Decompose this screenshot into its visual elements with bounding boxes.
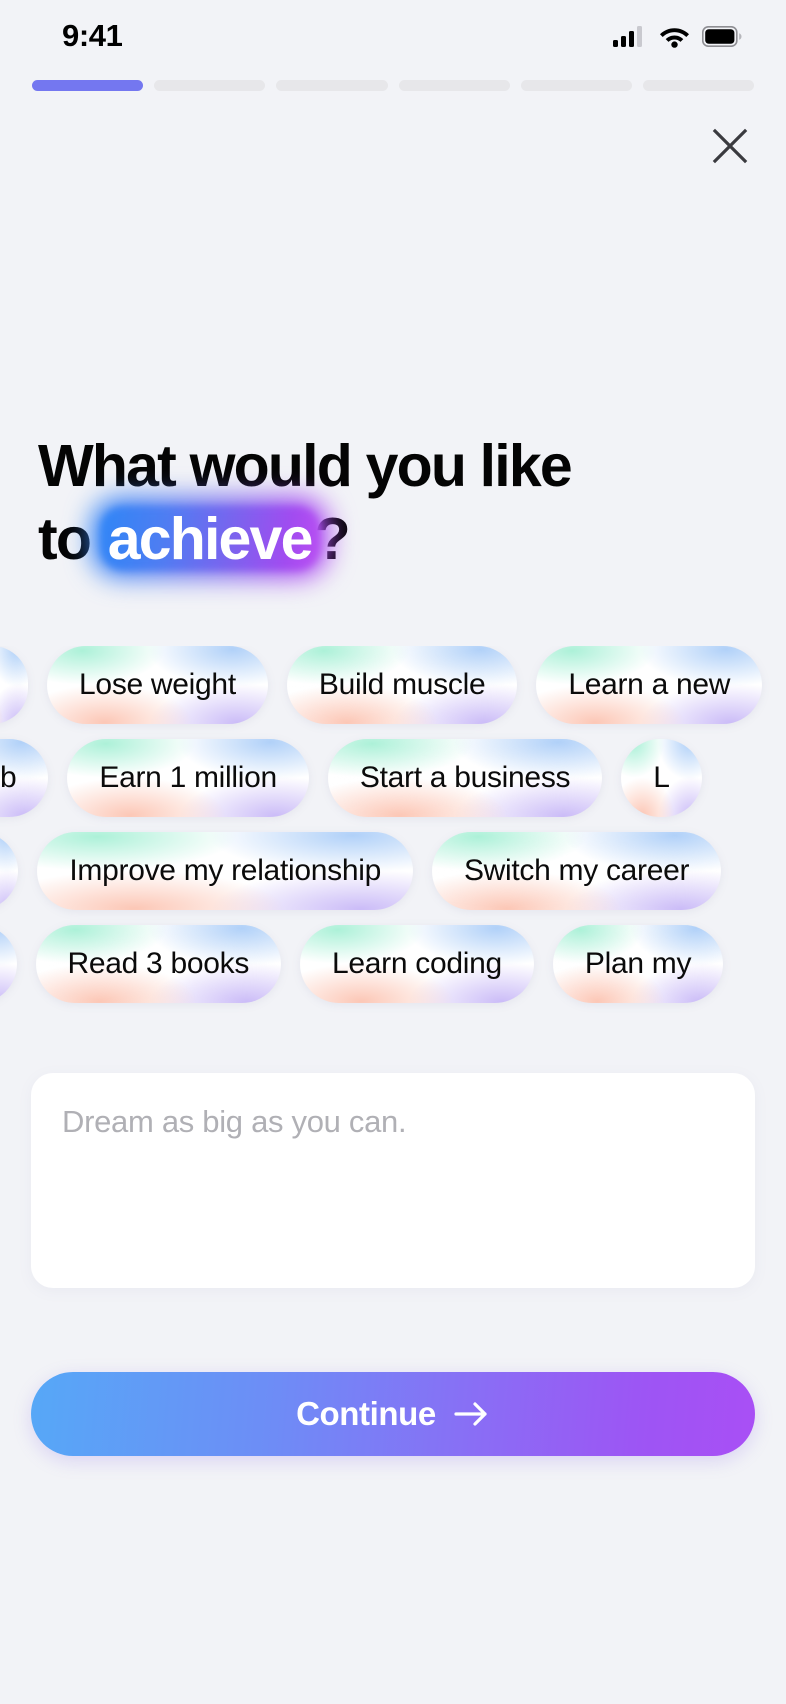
status-bar: 9:41 — [0, 0, 786, 72]
cellular-signal-icon — [613, 25, 647, 47]
progress-segment-4 — [399, 80, 510, 91]
chip-row-4: port Read 3 books Learn coding Plan my — [0, 925, 786, 1009]
goal-chip[interactable]: g — [0, 832, 18, 910]
progress-segment-2 — [154, 80, 265, 91]
goal-chip-label: nd a job — [0, 761, 16, 795]
goal-chip-label: Plan my — [585, 947, 691, 981]
page-title: What would you like to achieve? — [38, 430, 738, 576]
chip-row-1: t Lose weight Build muscle Learn a new — [0, 646, 786, 730]
goal-chip-label: Read 3 books — [68, 947, 250, 981]
goal-chip[interactable]: L — [621, 739, 701, 817]
progress-segment-5 — [521, 80, 632, 91]
goal-chip-label: Learn a new — [568, 668, 730, 702]
onboarding-screen: 9:41 — [0, 0, 786, 1704]
goal-chip[interactable]: nd a job — [0, 739, 48, 817]
close-x-icon — [710, 126, 750, 166]
goal-chip-label: Earn 1 million — [99, 761, 277, 795]
arrow-right-icon — [454, 1401, 490, 1427]
goal-chip-label: Switch my career — [464, 854, 689, 888]
headline-accent-word: achieve — [105, 503, 315, 576]
goal-input[interactable] — [62, 1104, 724, 1257]
goal-chip-label: L — [653, 761, 669, 795]
goal-chip[interactable]: Improve my relationship — [37, 832, 413, 910]
close-button[interactable] — [702, 118, 758, 174]
progress-segment-1 — [32, 80, 143, 91]
goal-input-card[interactable] — [31, 1073, 755, 1288]
continue-button[interactable]: Continue — [31, 1372, 755, 1456]
goal-chip-label: Learn coding — [332, 947, 502, 981]
goal-chip[interactable]: Start a business — [328, 739, 602, 817]
chip-row-2: nd a job Earn 1 million Start a business… — [0, 739, 786, 823]
headline-line-1: What would you like — [38, 433, 571, 499]
goal-chip-label: Lose weight — [79, 668, 236, 702]
onboarding-progress-bar — [32, 80, 754, 91]
goal-chip[interactable]: Learn coding — [300, 925, 534, 1003]
goal-chip[interactable]: Switch my career — [432, 832, 721, 910]
status-bar-icons — [613, 25, 742, 48]
goal-chip-label: Build muscle — [319, 668, 485, 702]
goal-chip[interactable]: Plan my — [553, 925, 723, 1003]
goal-chip-label: Improve my relationship — [69, 854, 381, 888]
goal-chip[interactable]: Earn 1 million — [67, 739, 309, 817]
chip-row-3: g Improve my relationship Switch my care… — [0, 832, 786, 916]
continue-button-label: Continue — [296, 1395, 436, 1433]
goal-chip[interactable]: Read 3 books — [36, 925, 282, 1003]
goal-chip[interactable]: t — [0, 646, 28, 724]
wifi-icon — [659, 25, 690, 48]
progress-segment-6 — [643, 80, 754, 91]
goal-chip[interactable]: port — [0, 925, 17, 1003]
goal-suggestion-chips: t Lose weight Build muscle Learn a new n… — [0, 646, 786, 1046]
goal-chip-label: Start a business — [360, 761, 570, 795]
battery-full-icon — [702, 26, 742, 47]
goal-chip[interactable]: Lose weight — [47, 646, 268, 724]
goal-chip[interactable]: Learn a new — [536, 646, 762, 724]
progress-segment-3 — [276, 80, 387, 91]
status-bar-time: 9:41 — [62, 18, 122, 54]
goal-chip[interactable]: Build muscle — [287, 646, 517, 724]
